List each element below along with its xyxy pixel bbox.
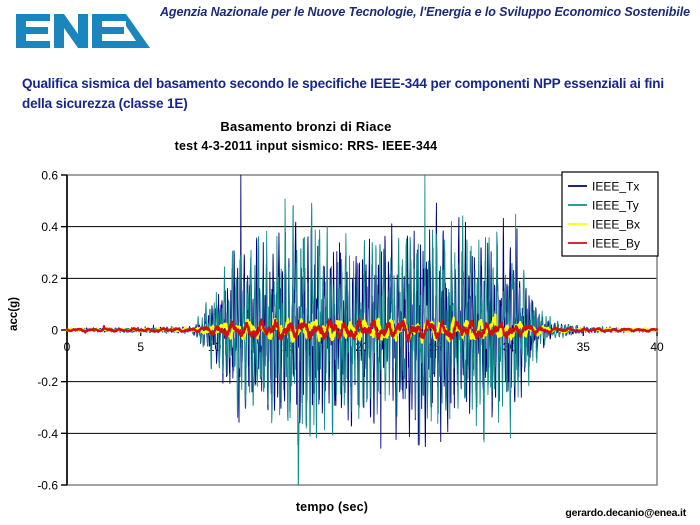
- x-axis-tick-label: 0: [64, 340, 71, 354]
- x-axis-tick-label: 40: [650, 340, 664, 354]
- seismic-chart: Basamento bronzi di Riace test 4-3-2011 …: [0, 112, 700, 525]
- legend-label-ieee_tx: IEEE_Tx: [592, 180, 639, 194]
- contact-email: gerardo.decanio@enea.it: [565, 507, 686, 519]
- header-subtitle: Agenzia Nazionale per le Nuove Tecnologi…: [160, 5, 690, 20]
- x-axis-title: tempo (sec): [232, 500, 432, 514]
- x-axis-tick-label: 35: [577, 340, 591, 354]
- plot-area: -0.6-0.4-0.200.20.40.60510152025303540IE…: [0, 112, 700, 525]
- y-axis-tick-label: 0.2: [41, 272, 58, 286]
- y-axis-tick-label: 0: [51, 324, 58, 338]
- enea-logo-mark: [14, 8, 152, 54]
- plot-svg: -0.6-0.4-0.200.20.40.60510152025303540IE…: [0, 112, 700, 525]
- y-axis-title: acc(g): [8, 284, 20, 344]
- legend-label-ieee_by: IEEE_By: [592, 237, 640, 251]
- page-title: Qualifica sismica del basamento secondo …: [22, 74, 682, 114]
- legend-label-ieee_ty: IEEE_Ty: [592, 199, 639, 213]
- y-axis-tick-label: -0.2: [37, 375, 58, 389]
- legend-label-ieee_bx: IEEE_Bx: [592, 218, 640, 232]
- y-axis-tick-label: -0.6: [37, 479, 58, 493]
- page-header: Agenzia Nazionale per le Nuove Tecnologi…: [0, 0, 700, 62]
- x-axis-tick-label: 5: [137, 340, 144, 354]
- y-axis-tick-label: 0.4: [41, 220, 58, 234]
- y-axis-tick-label: -0.4: [37, 427, 58, 441]
- enea-logo: [14, 8, 152, 54]
- y-axis-tick-label: 0.6: [41, 169, 58, 183]
